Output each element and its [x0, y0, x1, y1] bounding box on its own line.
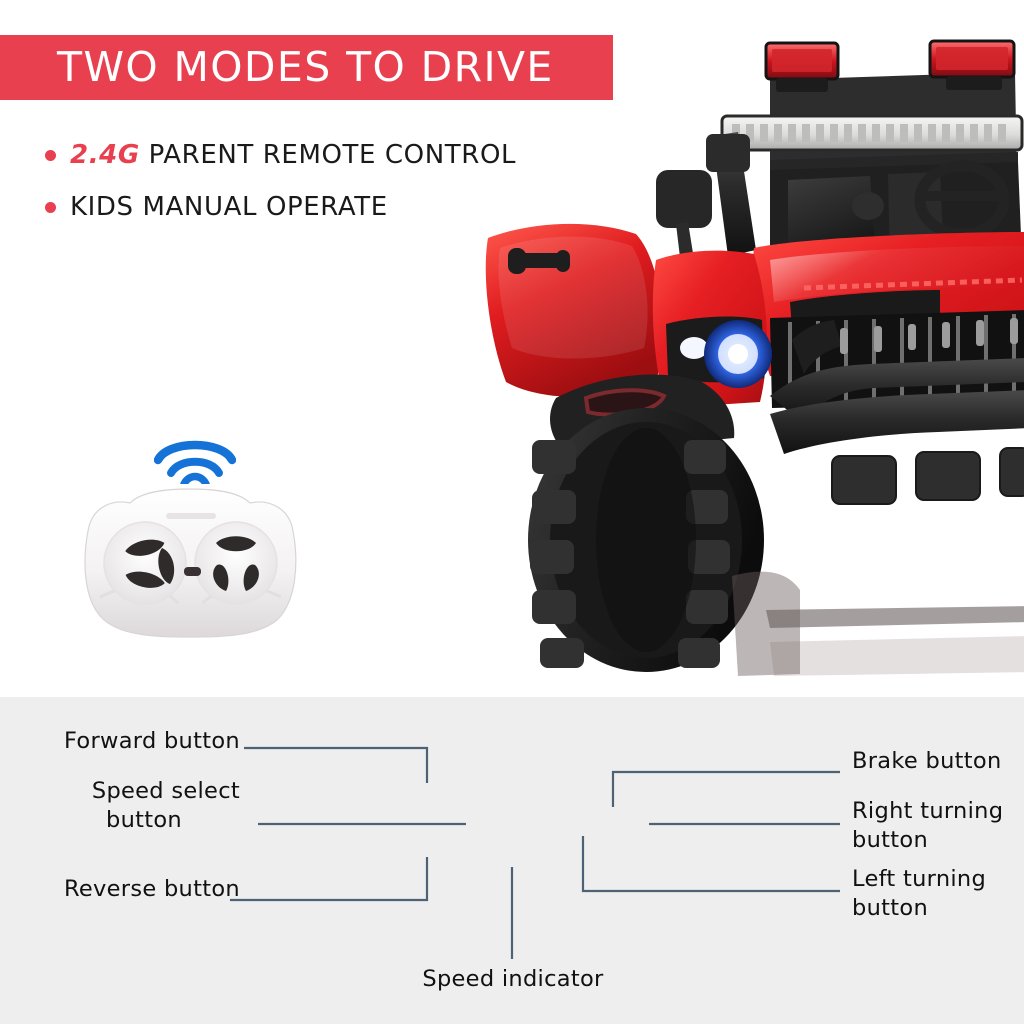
leader-left-turn [583, 836, 840, 891]
led-light-bar [722, 116, 1022, 150]
callout-forward-button: Forward button [55, 727, 240, 756]
callout-reverse-button: Reverse button [50, 875, 240, 904]
callout-speed-indicator: Speed indicator [388, 965, 638, 994]
callout-line-2: button [852, 894, 1024, 923]
bullet-text: KIDS MANUAL OPERATE [70, 192, 388, 222]
callout-line-2: button [48, 806, 240, 835]
callout-line-1: Left turning [852, 865, 1024, 894]
callout-brake-button: Brake button [852, 747, 1024, 776]
callout-left-turning-button: Left turning button [852, 865, 1024, 923]
callout-line-2: button [852, 826, 1024, 855]
leader-reverse [230, 857, 427, 900]
bullet-highlight: 2.4G [70, 140, 140, 170]
bullet-rest: KIDS MANUAL OPERATE [70, 192, 388, 222]
roof-lamp-left [766, 43, 838, 92]
remote-control-small [78, 485, 303, 640]
leader-forward [244, 748, 427, 783]
callout-line-1: Speed select [48, 777, 240, 806]
wifi-signal-icon [154, 432, 236, 484]
infographic-stage: TWO MODES TO DRIVE 2.4G PARENT REMOTE CO… [0, 0, 1024, 1024]
bullet-dot-icon [45, 150, 56, 161]
callout-speed-select-button: Speed select button [48, 777, 240, 835]
bullet-dot-icon [45, 202, 56, 213]
callout-right-turning-button: Right turning button [852, 797, 1024, 855]
bullet-text: 2.4G PARENT REMOTE CONTROL [70, 140, 516, 170]
top-panel: TWO MODES TO DRIVE 2.4G PARENT REMOTE CO… [0, 0, 1024, 697]
front-wheel [528, 408, 764, 672]
ride-on-jeep-car [470, 10, 1024, 680]
leader-brake [613, 772, 840, 807]
diagram-panel: Forward button Speed select button Rever… [0, 697, 1024, 1024]
bullet-rest: PARENT REMOTE CONTROL [140, 140, 516, 170]
callout-line-1: Right turning [852, 797, 1024, 826]
